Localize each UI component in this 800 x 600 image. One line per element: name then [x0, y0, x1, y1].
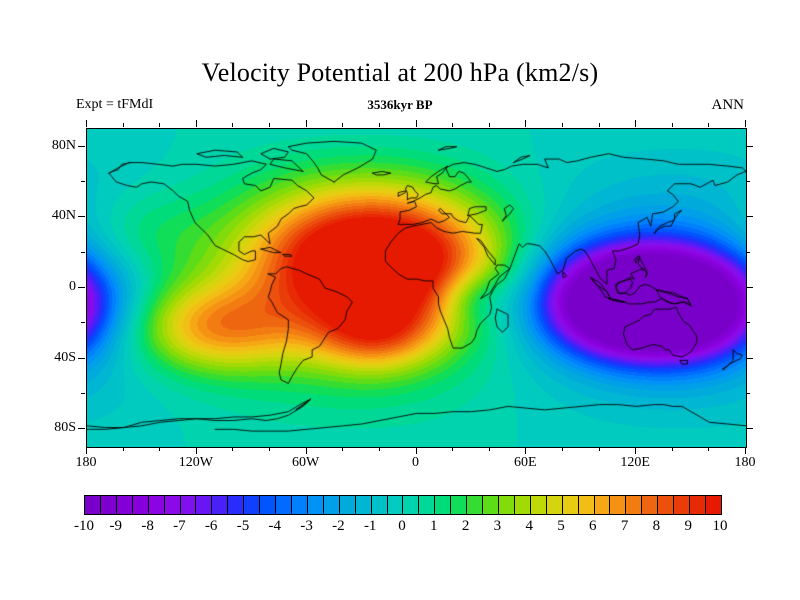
colorbar-cell: [499, 496, 515, 514]
colorbar-tick-label: -1: [364, 518, 377, 535]
colorbar-cell: [579, 496, 595, 514]
colorbar-cell: [372, 496, 388, 514]
colorbar-cell: [244, 496, 260, 514]
y-axis-tick-label: 80N: [16, 138, 76, 154]
x-axis-tick-top: [306, 120, 307, 127]
x-axis-tick: [525, 447, 526, 454]
y-axis-tick: [78, 358, 85, 359]
x-axis-tick-top: [599, 123, 600, 127]
colorbar-tick-label: -9: [110, 518, 123, 535]
colorbar-tick-label: 7: [621, 518, 629, 535]
y-axis-tick: [78, 287, 85, 288]
colorbar-cell: [356, 496, 372, 514]
x-axis-tick: [269, 447, 270, 451]
colorbar-cell: [610, 496, 626, 514]
x-axis-tick-top: [672, 123, 673, 127]
x-axis-tick: [452, 447, 453, 451]
colorbar-cell: [85, 496, 101, 514]
y-axis-tick-label: 0: [16, 279, 76, 295]
colorbar-cell: [149, 496, 165, 514]
colorbar-cell: [212, 496, 228, 514]
x-axis-tick-top: [159, 123, 160, 127]
colorbar-cell: [165, 496, 181, 514]
colorbar-cell: [181, 496, 197, 514]
x-axis-tick-top: [562, 123, 563, 127]
y-axis-tick: [81, 393, 85, 394]
colorbar-cell: [451, 496, 467, 514]
colorbar-cell: [642, 496, 658, 514]
colorbar-tick-label: -8: [141, 518, 154, 535]
colorbar-tick-label: -2: [332, 518, 345, 535]
colorbar-cell: [595, 496, 611, 514]
x-axis-tick-top: [635, 120, 636, 127]
colorbar-cell: [388, 496, 404, 514]
x-axis-tick: [635, 447, 636, 454]
experiment-label: Expt = tFMdI: [76, 97, 153, 113]
colorbar-tick-label: -6: [205, 518, 218, 535]
y-axis-tick: [81, 252, 85, 253]
colorbar-cell: [626, 496, 642, 514]
colorbar-cell: [324, 496, 340, 514]
y-axis-tick-right: [746, 322, 750, 323]
colorbar-cell: [117, 496, 133, 514]
colorbar-cell: [260, 496, 276, 514]
x-axis-tick: [416, 447, 417, 454]
colorbar-cell: [196, 496, 212, 514]
x-axis-tick-top: [232, 123, 233, 127]
colorbar-cell: [403, 496, 419, 514]
x-axis-tick-label: 0: [412, 455, 419, 471]
y-axis-tick: [78, 216, 85, 217]
colorbar-tick-label: -5: [237, 518, 250, 535]
x-axis-tick: [379, 447, 380, 451]
y-axis-tick-right: [746, 287, 753, 288]
x-axis-tick-label: 120E: [620, 455, 650, 471]
x-axis-tick-label: 180: [76, 455, 97, 471]
x-axis-tick: [672, 447, 673, 451]
x-axis-tick: [562, 447, 563, 451]
x-axis-tick-top: [379, 123, 380, 127]
x-axis-tick-top: [745, 120, 746, 127]
coastline-overlay: [87, 129, 746, 447]
colorbar-cell: [547, 496, 563, 514]
y-axis-tick-right: [746, 146, 753, 147]
x-axis-tick-top: [123, 123, 124, 127]
colorbar-tick-label: -3: [300, 518, 313, 535]
colorbar-tick-label: -4: [269, 518, 282, 535]
y-axis-tick: [78, 428, 85, 429]
x-axis-tick-label: 60W: [292, 455, 319, 471]
y-axis-tick-right: [746, 181, 750, 182]
colorbar-tick-label: 0: [398, 518, 406, 535]
season-label: ANN: [712, 97, 745, 114]
colorbar-cell: [690, 496, 706, 514]
x-axis-tick-label: 60E: [514, 455, 537, 471]
colorbar-cell: [228, 496, 244, 514]
colorbar-cell: [276, 496, 292, 514]
x-axis-tick-label: 180: [735, 455, 756, 471]
x-axis-tick: [159, 447, 160, 451]
y-axis-tick: [78, 146, 85, 147]
colorbar-cell: [292, 496, 308, 514]
x-axis-tick: [745, 447, 746, 454]
figure-canvas: Velocity Potential at 200 hPa (km2/s) 35…: [0, 0, 800, 600]
y-axis-tick-right: [746, 428, 753, 429]
colorbar-cell: [467, 496, 483, 514]
y-axis-tick-right: [746, 216, 753, 217]
colorbar-cell: [419, 496, 435, 514]
x-axis-tick-top: [525, 120, 526, 127]
y-axis-tick-right: [746, 252, 750, 253]
x-axis-tick-label: 120W: [179, 455, 213, 471]
colorbar-tick-label: -7: [173, 518, 186, 535]
colorbar-cell: [308, 496, 324, 514]
colorbar-cell: [483, 496, 499, 514]
colorbar-cell: [531, 496, 547, 514]
map-plot-area: [86, 128, 747, 448]
x-axis-tick: [123, 447, 124, 451]
y-axis-tick-label: 80S: [16, 420, 76, 436]
colorbar-cell: [435, 496, 451, 514]
colorbar-cell: [563, 496, 579, 514]
x-axis-tick: [232, 447, 233, 451]
colorbar-tick-label: 4: [525, 518, 533, 535]
colorbar-cell: [706, 496, 721, 514]
colorbar-tick-label: 10: [713, 518, 728, 535]
colorbar-cell: [515, 496, 531, 514]
colorbar-cell: [340, 496, 356, 514]
colorbar-tick-label: 3: [494, 518, 502, 535]
colorbar-cell: [674, 496, 690, 514]
x-axis-tick-top: [708, 123, 709, 127]
colorbar-tick-label: -10: [74, 518, 94, 535]
y-axis-tick: [81, 181, 85, 182]
x-axis-tick-top: [452, 123, 453, 127]
x-axis-tick-top: [86, 120, 87, 127]
colorbar-tick-label: 8: [653, 518, 661, 535]
page-title: Velocity Potential at 200 hPa (km2/s): [0, 58, 800, 88]
x-axis-tick: [342, 447, 343, 451]
colorbar-tick-label: 2: [462, 518, 470, 535]
colorbar-tick-label: 6: [589, 518, 597, 535]
x-axis-tick-top: [269, 123, 270, 127]
x-axis-tick: [708, 447, 709, 451]
x-axis-tick: [306, 447, 307, 454]
x-axis-tick-top: [342, 123, 343, 127]
colorbar-tick-label: 5: [557, 518, 565, 535]
x-axis-tick: [196, 447, 197, 454]
y-axis-tick-right: [746, 358, 753, 359]
colorbar-cell: [101, 496, 117, 514]
y-axis-tick-label: 40N: [16, 208, 76, 224]
x-axis-tick-top: [196, 120, 197, 127]
x-axis-tick: [489, 447, 490, 451]
colorbar-cell: [133, 496, 149, 514]
x-axis-tick: [86, 447, 87, 454]
colorbar-tick-label: 9: [684, 518, 692, 535]
colorbar-tick-label: 1: [430, 518, 438, 535]
x-axis-tick: [599, 447, 600, 451]
x-axis-tick-top: [489, 123, 490, 127]
y-axis-tick-right: [746, 393, 750, 394]
y-axis-tick: [81, 322, 85, 323]
colorbar: [84, 495, 722, 515]
colorbar-cell: [658, 496, 674, 514]
x-axis-tick-top: [416, 120, 417, 127]
y-axis-tick-label: 40S: [16, 350, 76, 366]
